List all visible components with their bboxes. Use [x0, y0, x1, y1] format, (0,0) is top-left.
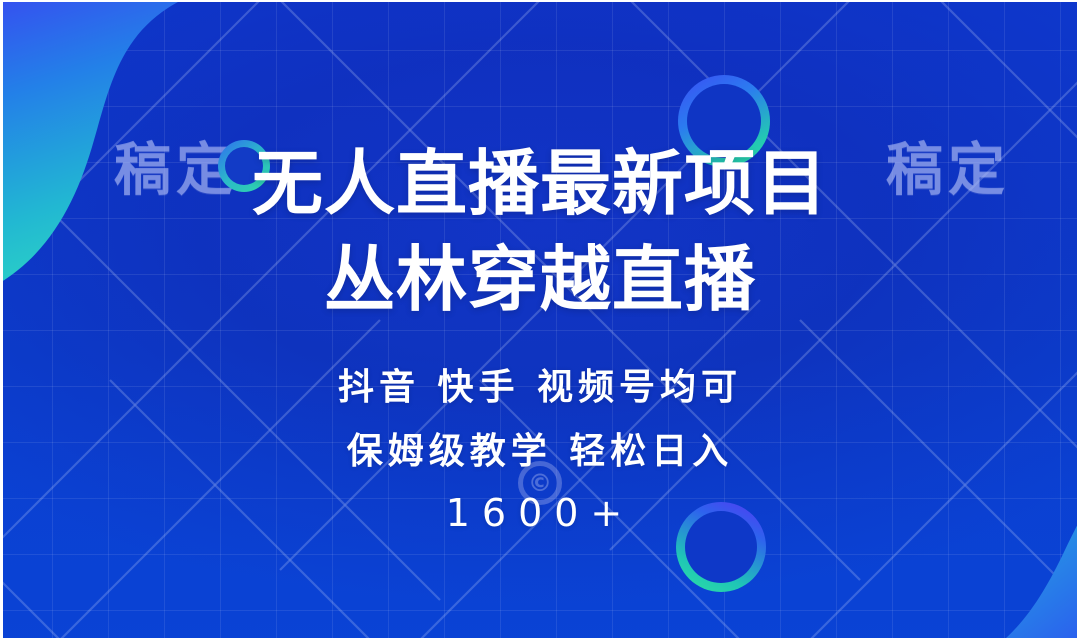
frame-edge-left — [0, 0, 3, 640]
frame-edge-top — [0, 0, 1080, 2]
copyright-watermark-icon: © — [518, 461, 562, 505]
wave-blob-bottom-right — [720, 340, 1080, 640]
gradient-ring-bottom-icon — [676, 502, 766, 592]
gradient-ring-top-icon — [678, 75, 770, 167]
watermark-right: 稿定 — [886, 124, 1010, 206]
promo-poster: 稿定 稿定 © 无人直播最新项目 丛林穿越直播 抖音 快手 视频号均可 保姆级教… — [0, 0, 1080, 640]
watermark-ring-icon — [218, 140, 270, 192]
